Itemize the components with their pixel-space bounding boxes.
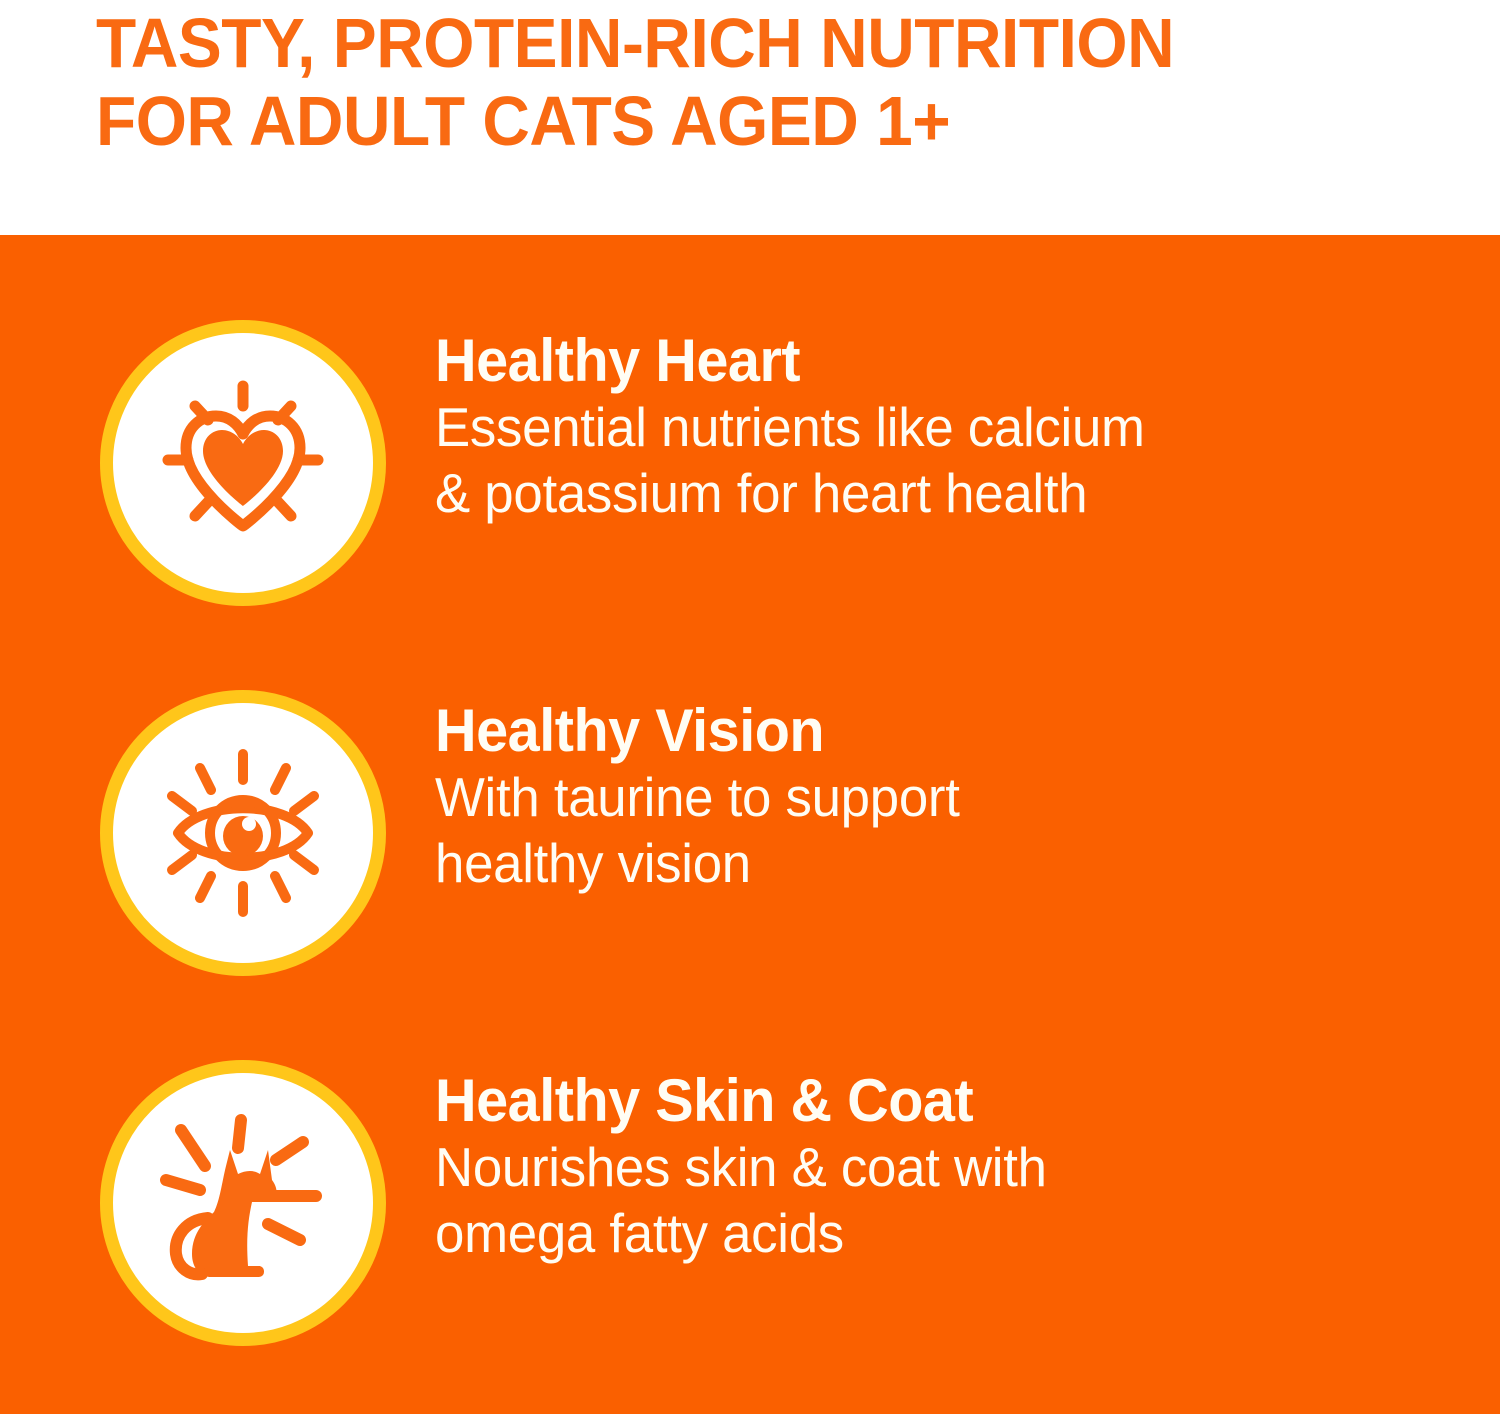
benefit-badge-cat	[100, 1060, 386, 1346]
benefit-text-block: Healthy Skin & Coat Nourishes skin & coa…	[435, 1068, 1435, 1266]
benefits-panel: Healthy Heart Essential nutrients like c…	[0, 235, 1500, 1414]
benefit-description: With taurine to support healthy vision	[435, 764, 1395, 896]
benefit-title: Healthy Vision	[435, 698, 1395, 764]
benefit-title: Healthy Heart	[435, 328, 1395, 394]
benefit-row: Healthy Skin & Coat Nourishes skin & coa…	[0, 1060, 1500, 1360]
page-title: TASTY, PROTEIN-RICH NUTRITION FOR ADULT …	[96, 4, 1346, 160]
header-band: TASTY, PROTEIN-RICH NUTRITION FOR ADULT …	[0, 0, 1500, 235]
benefit-description: Nourishes skin & coat with omega fatty a…	[435, 1134, 1395, 1266]
benefit-row: Healthy Vision With taurine to support h…	[0, 690, 1500, 990]
benefit-text-block: Healthy Heart Essential nutrients like c…	[435, 328, 1435, 526]
benefit-title: Healthy Skin & Coat	[435, 1068, 1395, 1134]
benefit-row: Healthy Heart Essential nutrients like c…	[0, 320, 1500, 620]
benefit-text-block: Healthy Vision With taurine to support h…	[435, 698, 1435, 896]
benefit-badge-heart	[100, 320, 386, 606]
benefit-description: Essential nutrients like calcium & potas…	[435, 394, 1395, 526]
benefit-badge-eye	[100, 690, 386, 976]
